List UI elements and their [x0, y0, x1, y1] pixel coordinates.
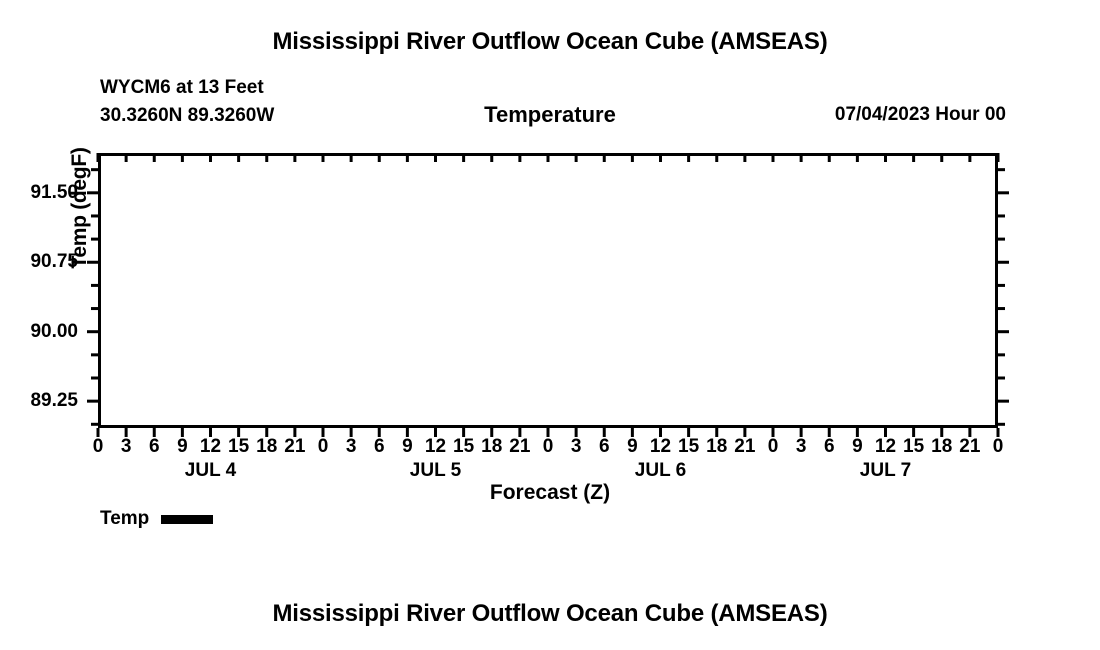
chart-page: Mississippi River Outflow Ocean Cube (AM…	[0, 0, 1100, 650]
x-axis-tick-label: 21	[284, 436, 305, 458]
x-axis-tick-label: 6	[374, 436, 385, 458]
legend-label: Temp	[100, 508, 149, 530]
x-axis-tick-label: 12	[200, 436, 221, 458]
x-axis-tick-label: 6	[149, 436, 160, 458]
x-axis-tick-label: 9	[627, 436, 638, 458]
x-axis-tick-label: 12	[650, 436, 671, 458]
x-axis-tick-label: 6	[824, 436, 835, 458]
x-axis-tick-label: 15	[228, 436, 249, 458]
legend-line-swatch	[161, 515, 213, 524]
x-axis-tick-label: 18	[481, 436, 502, 458]
x-axis-tick-label: 18	[706, 436, 727, 458]
x-axis-tick-label: 0	[543, 436, 554, 458]
x-axis-tick-label: 3	[796, 436, 807, 458]
x-axis-day-label: JUL 6	[635, 460, 686, 482]
x-axis-tick-label: 0	[768, 436, 779, 458]
station-name: WYCM6 at 13 Feet	[100, 74, 274, 102]
axis-tick-marks	[0, 153, 1100, 443]
x-axis-tick-label: 21	[734, 436, 755, 458]
x-axis-tick-label: 9	[177, 436, 188, 458]
x-axis-title: Forecast (Z)	[0, 481, 1100, 505]
x-axis-tick-label: 3	[571, 436, 582, 458]
x-axis-tick-label: 12	[875, 436, 896, 458]
footer-title: Mississippi River Outflow Ocean Cube (AM…	[0, 600, 1100, 628]
x-axis-tick-label: 12	[425, 436, 446, 458]
x-axis-tick-label: 21	[509, 436, 530, 458]
x-axis-tick-label: 0	[993, 436, 1004, 458]
legend: Temp	[100, 508, 213, 530]
x-axis-tick-label: 18	[931, 436, 952, 458]
x-axis-tick-label: 9	[402, 436, 413, 458]
x-axis-tick-label: 3	[346, 436, 357, 458]
x-axis-tick-label: 15	[453, 436, 474, 458]
x-axis-tick-label: 0	[93, 436, 104, 458]
x-axis-tick-label: 18	[256, 436, 277, 458]
x-axis-tick-label: 6	[599, 436, 610, 458]
x-axis-tick-label: 0	[318, 436, 329, 458]
x-axis-day-label: JUL 4	[185, 460, 236, 482]
x-axis-tick-label: 3	[121, 436, 132, 458]
x-axis-day-label: JUL 5	[410, 460, 461, 482]
model-run-stamp: 07/04/2023 Hour 00	[835, 104, 1006, 126]
x-axis-tick-label: 9	[852, 436, 863, 458]
x-axis-day-label: JUL 7	[860, 460, 911, 482]
x-axis-tick-label: 15	[903, 436, 924, 458]
x-axis-tick-label: 21	[959, 436, 980, 458]
x-axis-tick-label: 15	[678, 436, 699, 458]
page-title: Mississippi River Outflow Ocean Cube (AM…	[0, 28, 1100, 56]
x-axis-tick-labels: 0369121518210369121518210369121518210369…	[0, 436, 1100, 462]
